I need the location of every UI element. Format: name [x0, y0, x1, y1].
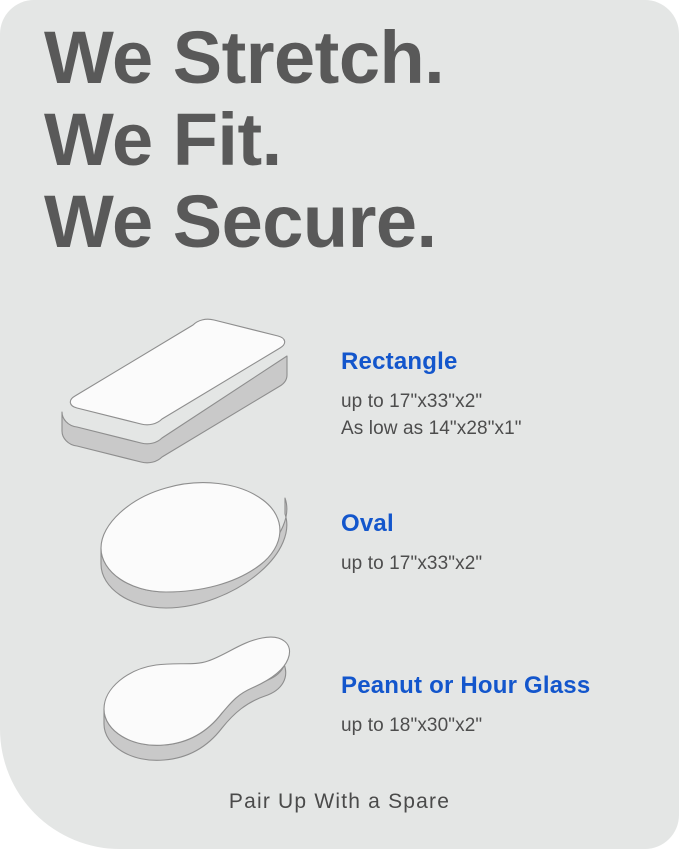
shape-spec-rectangle-1: up to 17"x33"x2": [341, 388, 661, 415]
shape-row-oval: Oval up to 17"x33"x2": [0, 472, 679, 632]
headline-line-1: We Stretch.: [44, 17, 644, 99]
headline-line-3: We Secure.: [44, 181, 644, 263]
shape-spec-peanut-1: up to 18"x30"x2": [341, 712, 661, 739]
rectangle-mattress-icon: [58, 314, 308, 464]
rectangle-mattress-illustration: [58, 314, 308, 469]
page-title: We Stretch. We Fit. We Secure.: [44, 17, 644, 263]
rectangle-info: Rectangle up to 17"x33"x2" As low as 14"…: [341, 348, 661, 442]
poster-root: We Stretch. We Fit. We Secure. Rectangle…: [0, 0, 679, 849]
peanut-mattress-icon: [84, 624, 304, 779]
headline-line-2: We Fit.: [44, 99, 644, 181]
shape-title-peanut: Peanut or Hour Glass: [341, 672, 661, 700]
footer-tagline: Pair Up With a Spare: [229, 790, 450, 813]
oval-mattress-icon: [96, 476, 306, 626]
shape-title-oval: Oval: [341, 510, 661, 538]
shape-spec-oval-1: up to 17"x33"x2": [341, 550, 661, 577]
shape-spec-rectangle-2: As low as 14"x28"x1": [341, 415, 661, 442]
shape-title-rectangle: Rectangle: [341, 348, 661, 376]
shape-row-peanut: Peanut or Hour Glass up to 18"x30"x2": [0, 624, 679, 784]
oval-info: Oval up to 17"x33"x2": [341, 510, 661, 577]
peanut-mattress-illustration: [84, 624, 304, 784]
peanut-info: Peanut or Hour Glass up to 18"x30"x2": [341, 672, 661, 739]
oval-mattress-illustration: [96, 476, 306, 631]
footer: Pair Up With a Spare: [0, 789, 679, 815]
shape-row-rectangle: Rectangle up to 17"x33"x2" As low as 14"…: [0, 306, 679, 466]
